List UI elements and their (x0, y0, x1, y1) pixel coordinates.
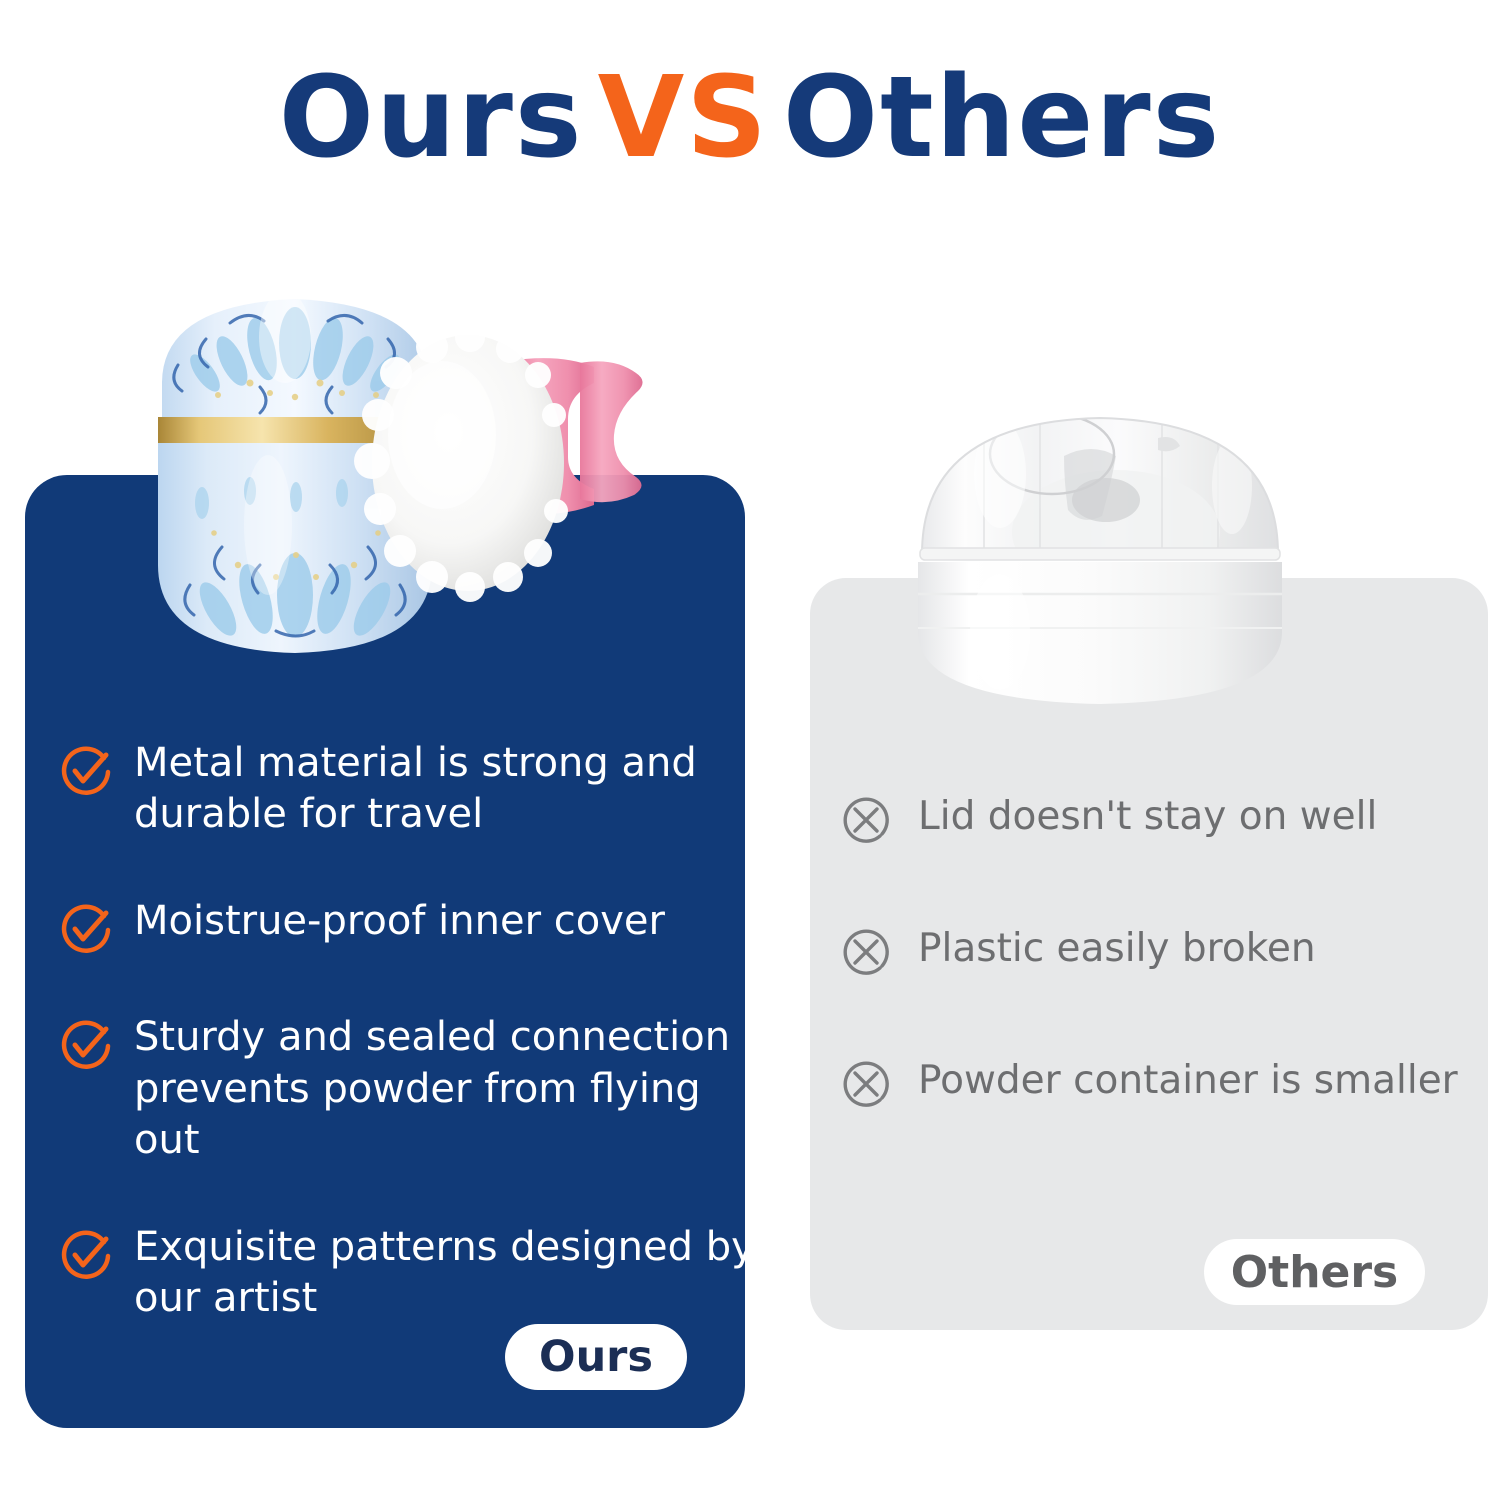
list-item: Lid doesn't stay on well (838, 792, 1478, 848)
feature-text: Powder container is smaller (918, 1056, 1458, 1106)
ours-badge-label: Ours (539, 1332, 653, 1382)
check-circle-icon (58, 742, 114, 798)
feature-text: Sturdy and sealed connection prevents po… (134, 1012, 758, 1166)
title-others-word: Others (783, 53, 1221, 183)
list-item: Moistrue-proof inner cover (58, 896, 758, 956)
check-circle-icon (58, 1226, 114, 1282)
x-circle-icon (838, 924, 894, 980)
others-badge: Others (1204, 1239, 1425, 1305)
list-item: Plastic easily broken (838, 924, 1478, 980)
others-badge-label: Others (1231, 1247, 1399, 1298)
x-circle-icon (838, 792, 894, 848)
check-circle-icon (58, 1016, 114, 1072)
feature-text: Lid doesn't stay on well (918, 792, 1377, 842)
ours-feature-list: Metal material is strong and durable for… (58, 738, 758, 1380)
list-item: Exquisite patterns designed by our artis… (58, 1222, 758, 1324)
feature-text: Metal material is strong and durable for… (134, 738, 758, 840)
list-item: Powder container is smaller (838, 1056, 1478, 1112)
ours-badge: Ours (505, 1324, 687, 1390)
list-item: Metal material is strong and durable for… (58, 738, 758, 840)
feature-text: Plastic easily broken (918, 924, 1316, 974)
check-circle-icon (58, 900, 114, 956)
title-vs-word: VS (598, 53, 769, 183)
title-ours-word: Ours (279, 53, 584, 183)
others-feature-list: Lid doesn't stay on well Plastic easily … (838, 792, 1478, 1188)
feature-text: Exquisite patterns designed by our artis… (134, 1222, 758, 1324)
list-item: Sturdy and sealed connection prevents po… (58, 1012, 758, 1166)
others-product-image (880, 382, 1320, 732)
feature-text: Moistrue-proof inner cover (134, 896, 665, 947)
x-circle-icon (838, 1056, 894, 1112)
page-title: OursVSOthers (0, 62, 1500, 174)
ours-product-image (110, 265, 730, 685)
